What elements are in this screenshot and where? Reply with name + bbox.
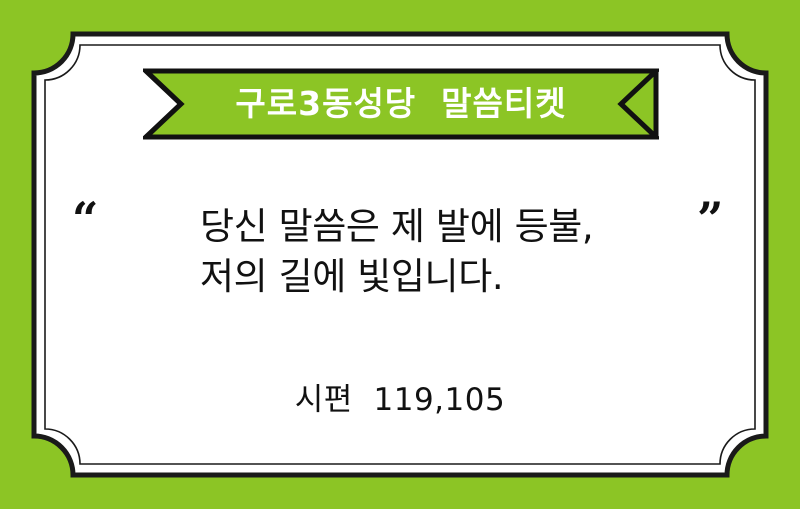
ribbon-banner: 구로3동성당 말씀티켓 <box>143 68 659 140</box>
word-ticket-card: 구로3동성당 말씀티켓 “ ” 당신 말씀은 제 발에 등불, 저의 길에 빛입… <box>0 0 800 509</box>
quote-open-icon: “ <box>72 196 98 242</box>
quote-line-1: 당신 말씀은 제 발에 등불, <box>200 202 670 252</box>
quote-line-2: 저의 길에 빛입니다. <box>200 252 670 302</box>
quote-close-icon: ” <box>697 196 723 242</box>
ribbon-title: 구로3동성당 말씀티켓 <box>143 68 659 140</box>
scripture-citation: 시편 119,105 <box>0 382 800 419</box>
scripture-quote: 당신 말씀은 제 발에 등불, 저의 길에 빛입니다. <box>200 202 670 302</box>
